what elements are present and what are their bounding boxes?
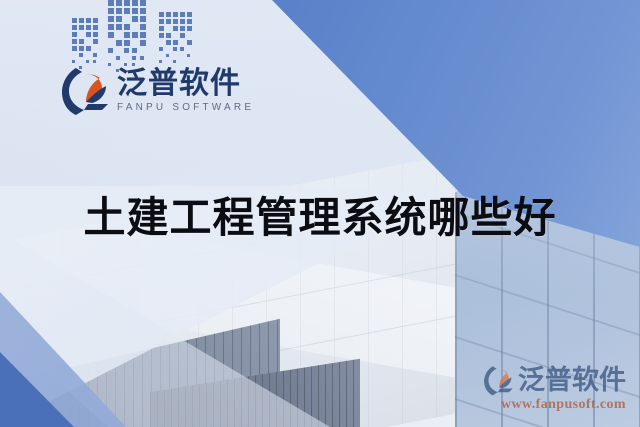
promo-banner: 泛普软件 FANPU SOFTWARE 土建工程管理系统哪些好 泛普软件 www…: [0, 0, 640, 427]
watermark-url: www.fanpusoft.com: [501, 397, 626, 413]
watermark-logo-row: 泛普软件: [484, 365, 626, 396]
brand-wordmark: 泛普软件 FANPU SOFTWARE: [117, 69, 254, 113]
fanpu-watermark-logo-icon: [484, 365, 514, 396]
fanpu-logo-icon: [62, 66, 110, 116]
watermark-name-cn: 泛普软件: [518, 367, 626, 394]
page-title: 土建工程管理系统哪些好: [0, 184, 640, 245]
site-watermark: 泛普软件 www.fanpusoft.com: [484, 365, 626, 413]
brand-name-cn: 泛普软件: [117, 69, 254, 99]
pixel-building-skyline-icon: [72, 0, 196, 76]
brand-logo: 泛普软件 FANPU SOFTWARE: [62, 66, 254, 116]
brand-name-en: FANPU SOFTWARE: [117, 103, 254, 113]
